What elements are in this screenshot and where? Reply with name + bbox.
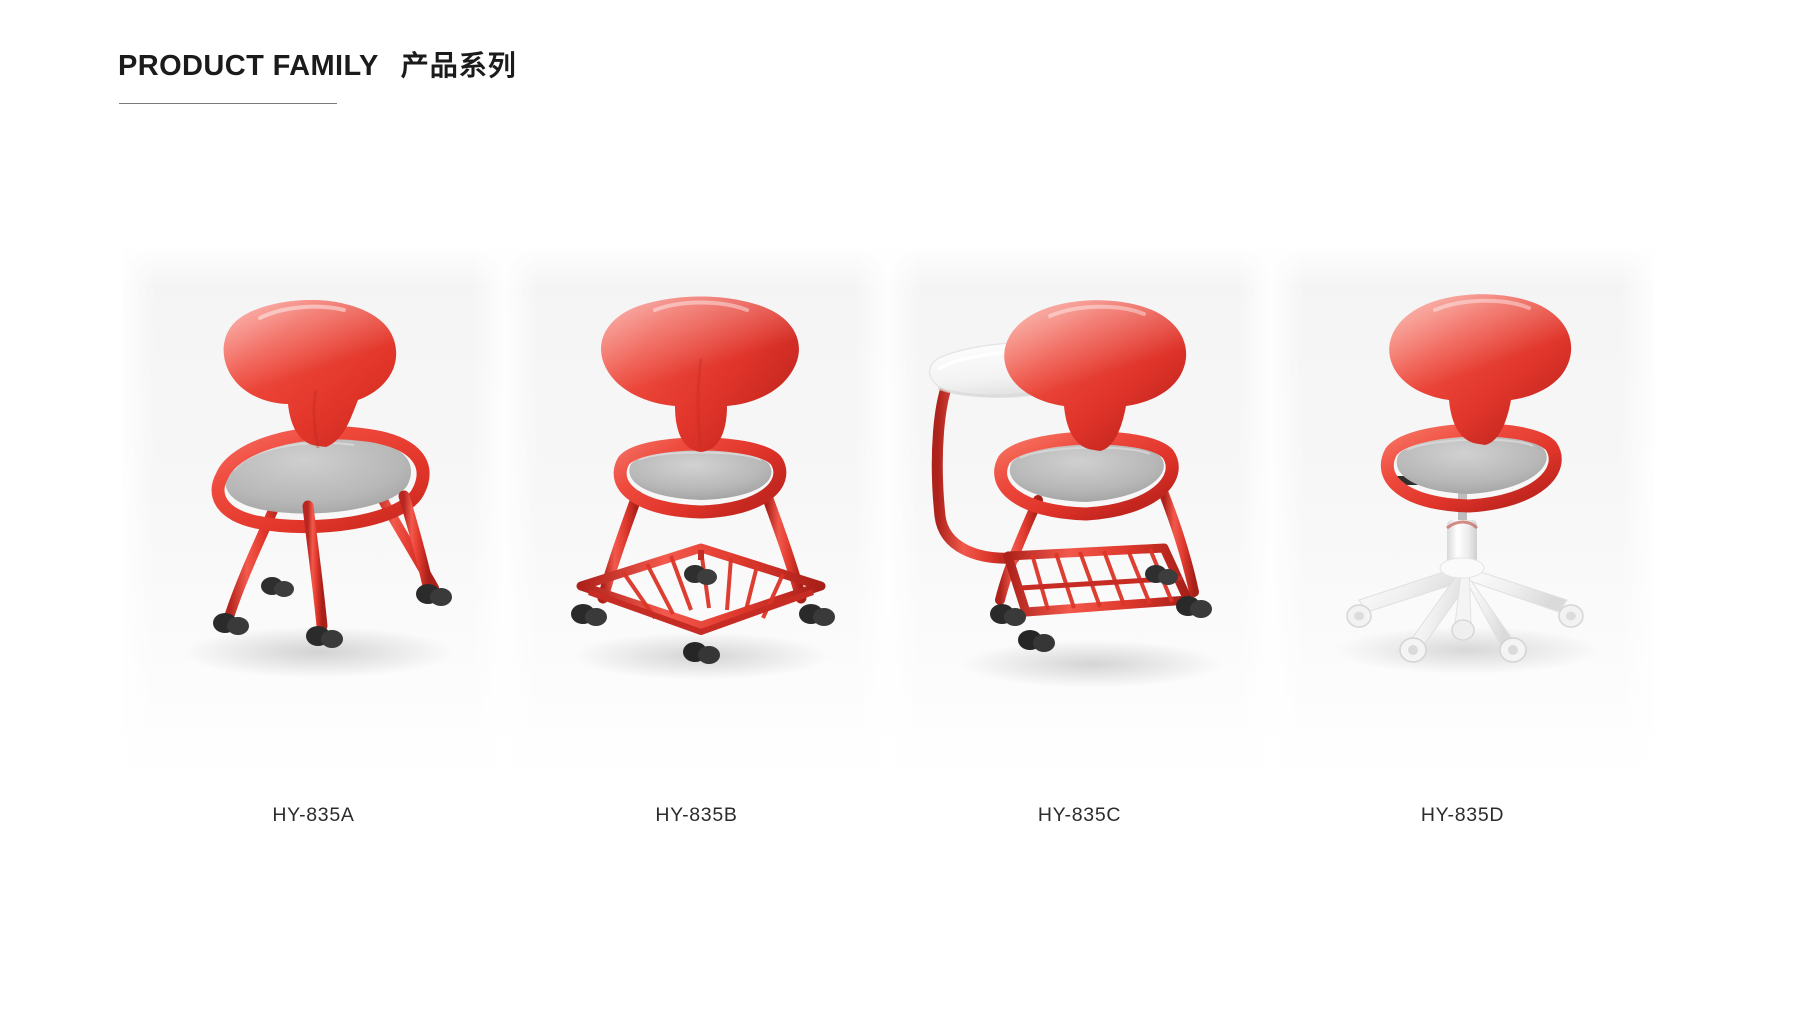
product-code-hy-835d: HY-835D	[1271, 804, 1654, 827]
seat-cushion	[629, 451, 771, 501]
floor-shadow	[962, 640, 1222, 688]
page-title-english: PRODUCT FAMILY	[118, 50, 379, 83]
product-card-hy-835b[interactable]: HY-835B	[505, 248, 888, 827]
chair-illustration-hy-835a	[122, 248, 505, 778]
product-card-hy-835a[interactable]: HY-835A	[122, 248, 505, 827]
seat-cushion	[1397, 437, 1547, 494]
product-code-hy-835a: HY-835A	[122, 804, 505, 827]
page-title-chinese: 产品系列	[401, 44, 517, 84]
title-underline-divider	[119, 103, 337, 104]
chair-illustration-hy-835c	[888, 248, 1271, 778]
product-image-stage-b	[505, 248, 888, 778]
product-card-hy-835d[interactable]: HY-835D	[1271, 248, 1654, 827]
product-code-hy-835c: HY-835C	[888, 804, 1271, 827]
backrest-shell	[1004, 300, 1186, 451]
product-code-hy-835b: HY-835B	[505, 804, 888, 827]
seat-cushion	[1010, 445, 1164, 502]
chair-illustration-hy-835b	[505, 248, 888, 778]
backrest-shell	[1389, 294, 1571, 445]
chair-illustration-hy-835d	[1271, 248, 1654, 778]
product-card-hy-835c[interactable]: HY-835C	[888, 248, 1271, 827]
product-image-stage-d	[1271, 248, 1654, 778]
page-header: PRODUCT FAMILY 产品系列	[118, 44, 1018, 104]
title-row: PRODUCT FAMILY 产品系列	[118, 44, 1018, 84]
backrest-shell	[601, 297, 799, 453]
product-image-stage-a	[122, 248, 505, 778]
backrest-shell	[224, 300, 396, 448]
product-gallery: HY-835A	[0, 248, 1800, 827]
product-image-stage-c	[888, 248, 1271, 778]
